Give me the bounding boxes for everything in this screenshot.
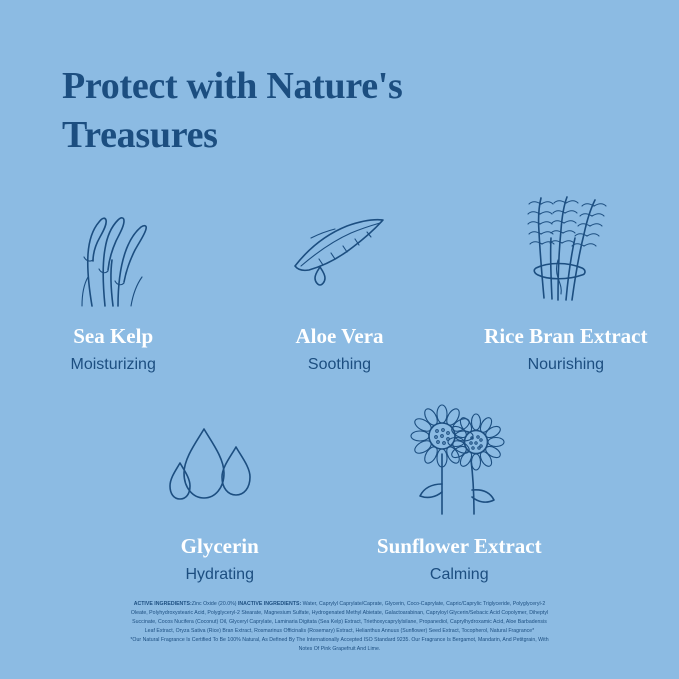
ingredient-fineprint: ACTIVE INGREDIENTS:Zinc Oxide (20.0%) IN… — [54, 600, 626, 654]
inactive-ingredients-label: INACTIVE INGREDIENTS: — [238, 601, 301, 607]
ingredient-card-sunflower: Sunflower Extract Calming — [340, 400, 580, 584]
fineprint-line-2: Oleate, Polyhydroxystearic Acid, Polygly… — [54, 609, 626, 618]
ingredient-name: Glycerin — [181, 534, 259, 559]
water-droplets-icon — [160, 400, 280, 520]
ingredient-benefits-panel: Protect with Nature's Treasures Sea Kelp… — [0, 0, 679, 679]
ingredient-benefit: Moisturizing — [70, 356, 155, 374]
ingredient-name: Sea Kelp — [73, 324, 153, 349]
aloe-vera-icon — [279, 190, 399, 310]
ingredient-card-aloe-vera: Aloe Vera Soothing — [226, 190, 452, 374]
active-ingredients-value: Zinc Oxide (20.0%) — [192, 601, 238, 607]
ingredient-name: Aloe Vera — [295, 324, 383, 349]
fineprint-line-5: *Our Natural Fragrance Is Certified To B… — [54, 636, 626, 645]
row-spacer-left — [0, 400, 100, 584]
ingredient-benefit: Nourishing — [528, 356, 604, 374]
ingredient-name: Rice Bran Extract — [484, 324, 647, 349]
fineprint-line-3: Succinate, Cocos Nucifera (Coconut) Oil,… — [54, 618, 626, 627]
active-ingredients-label: ACTIVE INGREDIENTS: — [134, 601, 192, 607]
inactive-ingredients-start: Water, Caprylyl Caprylate/Caprate, Glyce… — [301, 601, 545, 607]
ingredient-card-glycerin: Glycerin Hydrating — [100, 400, 340, 584]
ingredient-name: Sunflower Extract — [377, 534, 542, 559]
ingredient-benefit: Hydrating — [186, 566, 254, 584]
fineprint-line-4: Leaf Extract, Oryza Sativa (Rice) Bran E… — [54, 627, 626, 636]
fineprint-line-6: Notes Of Pink Grapefruit And Lime. — [54, 645, 626, 654]
ingredient-benefit: Calming — [430, 566, 489, 584]
ingredient-row-bottom: Glycerin Hydrating — [0, 400, 679, 584]
sea-kelp-icon — [58, 190, 168, 310]
ingredient-card-sea-kelp: Sea Kelp Moisturizing — [0, 190, 226, 374]
rice-bran-icon — [506, 190, 626, 310]
ingredient-row-top: Sea Kelp Moisturizing Aloe Vera Soothing — [0, 190, 679, 374]
sunflower-icon — [384, 400, 534, 520]
ingredient-benefit: Soothing — [308, 356, 371, 374]
fineprint-line-1: ACTIVE INGREDIENTS:Zinc Oxide (20.0%) IN… — [54, 600, 626, 609]
page-title: Protect with Nature's Treasures — [62, 62, 532, 159]
ingredient-card-rice-bran: Rice Bran Extract Nourishing — [453, 190, 679, 374]
row-spacer-right — [579, 400, 679, 584]
